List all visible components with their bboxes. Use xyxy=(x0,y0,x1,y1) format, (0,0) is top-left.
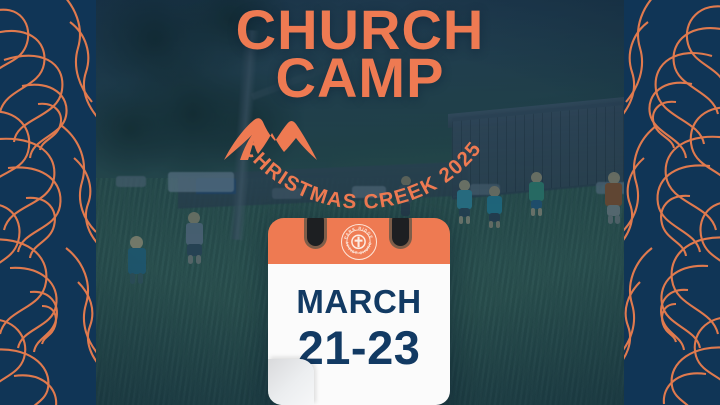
calendar-month: MARCH xyxy=(268,283,450,321)
calendar-ring-left xyxy=(307,218,324,246)
calendar-page-curl xyxy=(268,359,314,405)
cross-icon xyxy=(355,237,363,248)
calendar-ring-right xyxy=(392,218,409,246)
calendar-header: PARK RIDGE BAPTIST CHURCH xyxy=(268,218,450,264)
poster-canvas: CHURCH CAMP CHRISTMAS CREEK 2025 xyxy=(0,0,720,405)
church-logo-badge: PARK RIDGE BAPTIST CHURCH xyxy=(341,224,377,260)
arc-logo-group: CHRISTMAS CREEK 2025 xyxy=(218,104,506,214)
calendar-card: PARK RIDGE BAPTIST CHURCH xyxy=(268,218,450,405)
headline-line-2: CAMP xyxy=(0,52,720,104)
mountain-logo xyxy=(218,104,322,166)
poster-headline: CHURCH CAMP xyxy=(0,4,720,103)
calendar-body: MARCH 21-23 xyxy=(268,264,450,405)
